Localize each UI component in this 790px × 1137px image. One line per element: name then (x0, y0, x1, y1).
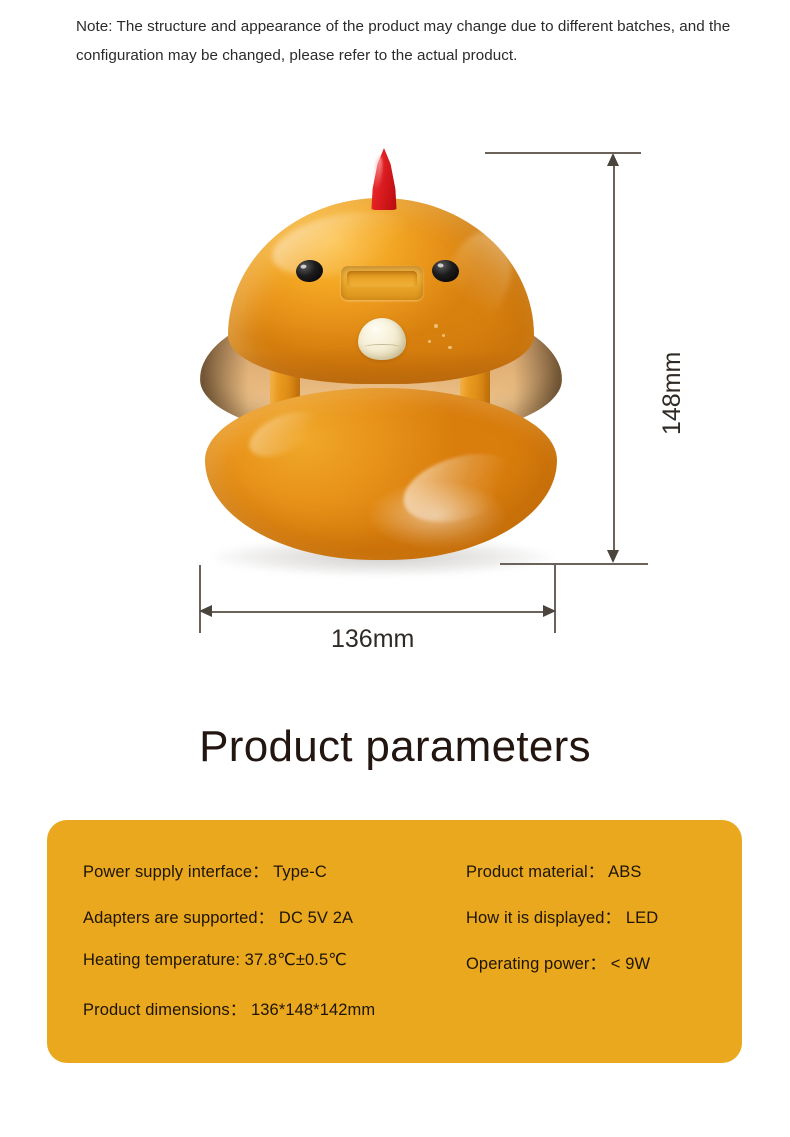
width-dimension-line (206, 611, 550, 613)
spec-how-displayed: How it is displayed： LED (466, 904, 658, 928)
product-note: Note: The structure and appearance of th… (76, 12, 736, 70)
bowl-highlight-secondary (243, 402, 325, 465)
spec-product-dimensions: Product dimensions： 136*148*142mm (83, 996, 375, 1020)
spec-power-supply-interface: Power supply interface： Type-C (83, 858, 327, 882)
bowl-highlight (396, 442, 527, 534)
height-dimension-label: 148mm (658, 352, 687, 435)
product-parameters-panel: Power supply interface： Type-C Adapters … (47, 820, 742, 1063)
height-dimension-line (613, 160, 615, 558)
product-base-bowl (205, 388, 557, 560)
head-speckle (448, 346, 452, 349)
spec-product-material: Product material： ABS (466, 858, 641, 882)
width-extension-line-right (554, 563, 556, 633)
width-dimension-label: 136mm (331, 625, 414, 654)
eye-highlight (437, 263, 443, 268)
lid-handle-slot (341, 266, 423, 300)
spec-heating-temperature: Heating temperature: 37.8℃±0.5℃ (83, 950, 347, 970)
power-button-knob (358, 318, 406, 360)
width-arrow-right (543, 605, 556, 617)
width-extension-line-left (199, 565, 201, 633)
handle-recess (347, 271, 417, 287)
page-title: Product parameters (0, 722, 790, 772)
spec-operating-power: Operating power： < 9W (466, 950, 650, 974)
product-figure: 148mm 136mm (0, 120, 790, 680)
head-speckle (428, 340, 431, 343)
head-speckle (434, 324, 438, 328)
height-arrow-down (607, 550, 619, 563)
knob-seam-line (364, 344, 400, 350)
spec-adapters-supported: Adapters are supported： DC 5V 2A (83, 904, 353, 928)
height-extension-line-bottom (500, 563, 648, 565)
height-arrow-up (607, 153, 619, 166)
eye-highlight (300, 264, 306, 269)
width-arrow-left (199, 605, 212, 617)
head-speckle (442, 334, 445, 337)
